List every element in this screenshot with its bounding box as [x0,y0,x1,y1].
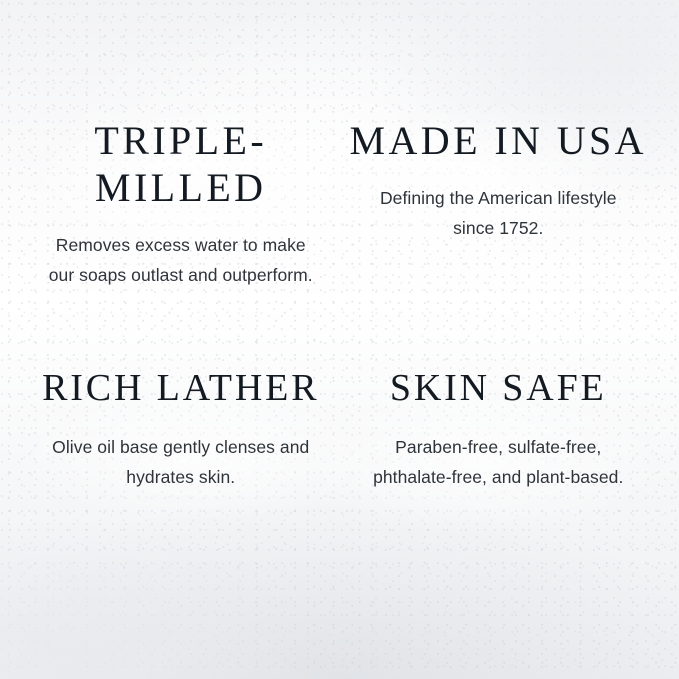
benefit-description: Removes excess water to make our soaps o… [48,230,314,291]
benefit-item-skin-safe: SKIN SAFE Paraben-free, sulfate-free, ph… [340,344,658,570]
benefit-description: Olive oil base gently clenses and hydrat… [31,432,331,493]
benefit-description: Paraben-free, sulfate-free, phthalate-fr… [362,432,634,493]
benefit-item-rich-lather: RICH LATHER Olive oil base gently clense… [22,344,340,570]
benefit-grid: TRIPLE-MILLED Removes excess water to ma… [0,0,679,679]
benefit-heading: MADE IN USA [350,118,647,165]
benefit-heading: RICH LATHER [42,366,319,410]
benefit-item-made-in-usa: MADE IN USA Defining the American lifest… [340,118,658,344]
benefit-heading: SKIN SAFE [390,366,607,410]
benefits-infographic: TRIPLE-MILLED Removes excess water to ma… [0,0,679,679]
benefit-item-triple-milled: TRIPLE-MILLED Removes excess water to ma… [22,118,340,344]
benefit-description: Defining the American lifestyle since 17… [373,183,623,244]
benefit-heading: TRIPLE-MILLED [28,118,334,212]
